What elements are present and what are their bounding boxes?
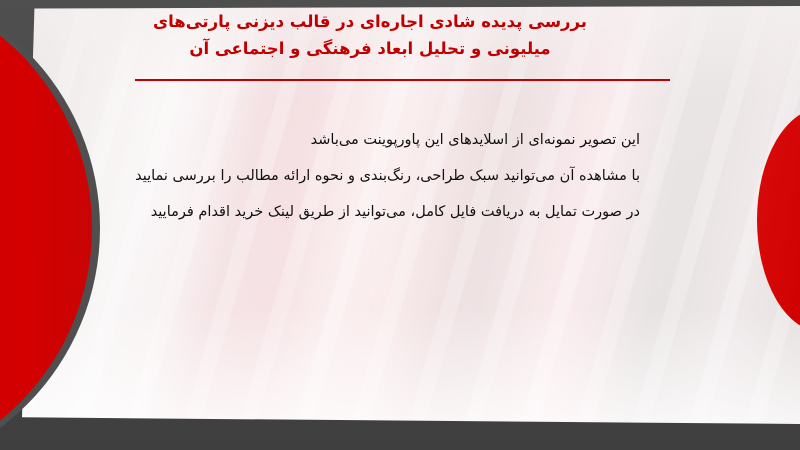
slide-title-underline [135,79,670,81]
slide-title-line-1: بررسی پدیده شادی اجاره‌ای در قالب دیزنی … [60,8,680,35]
slide-title: بررسی پدیده شادی اجاره‌ای در قالب دیزنی … [60,8,680,62]
presentation-slide: بررسی پدیده شادی اجاره‌ای در قالب دیزنی … [0,0,800,450]
slide-body-line-3: در صورت تمایل به دریافت فایل کامل، می‌تو… [120,194,640,230]
slide-body-line-1: این تصویر نمونه‌ای از اسلایدهای این پاور… [120,122,640,158]
slide-title-line-2: میلیونی و تحلیل ابعاد فرهنگی و اجتماعی آ… [60,35,680,62]
slide-body-line-2: با مشاهده آن می‌توانید سبک طراحی، رنگ‌بن… [120,158,640,194]
slide-body-text: این تصویر نمونه‌ای از اسلایدهای این پاور… [120,122,640,230]
